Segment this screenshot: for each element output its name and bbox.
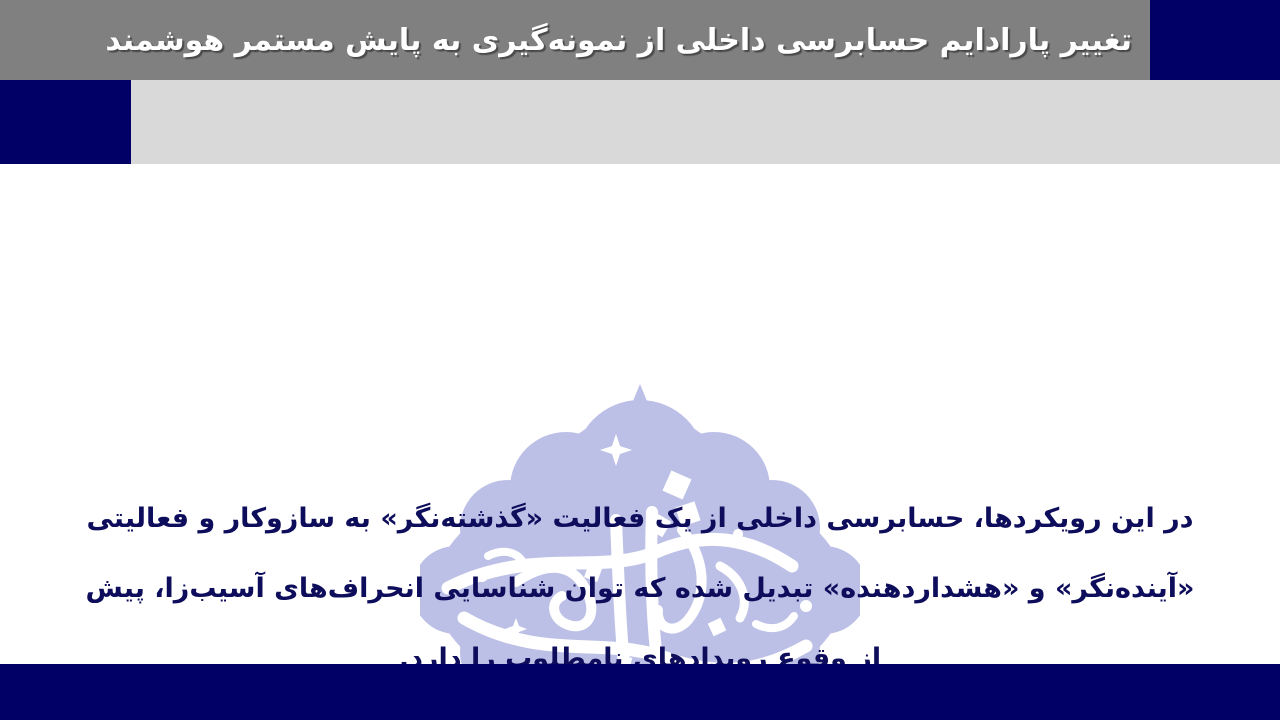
presentation-slide: تغییر پارادایم حسابرسی داخلی از نمونه‌گی… [0,0,1280,720]
slide-header-bar: تغییر پارادایم حسابرسی داخلی از نمونه‌گی… [0,0,1150,80]
slide-body: در این رویکردها، حسابرسی داخلی از یک فعا… [0,164,1280,664]
subband-divider [131,80,1280,164]
body-line-1: در این رویکردها، حسابرسی داخلی از یک فعا… [198,503,1193,534]
header-accent-block-right [1150,0,1280,80]
subband-accent-block-left [0,80,131,164]
page-title: تغییر پارادایم حسابرسی داخلی از نمونه‌گی… [18,0,1132,80]
body-paragraph: در این رویکردها، حسابرسی داخلی از یک فعا… [70,484,1210,694]
slide-footer-bar [0,664,1280,720]
